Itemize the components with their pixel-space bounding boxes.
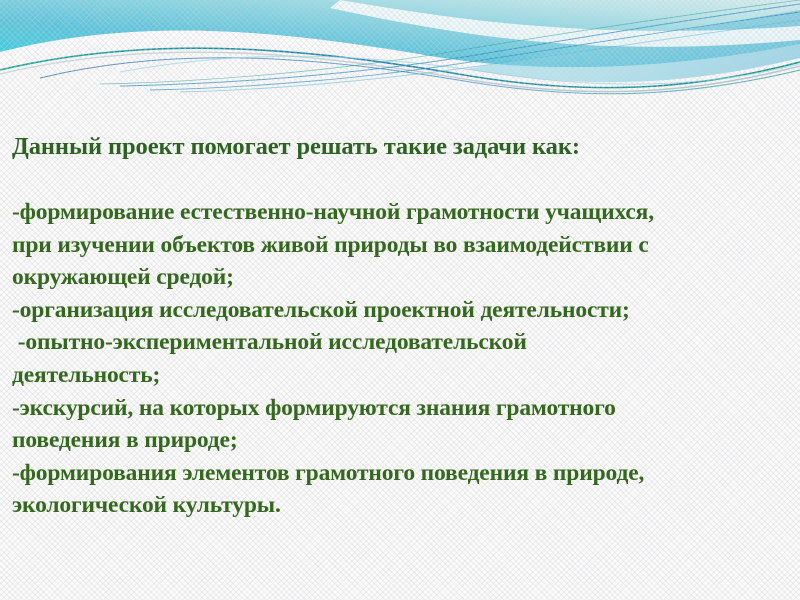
task-list: -формирование естественно-научной грамот… bbox=[12, 196, 794, 522]
task-line: экологической культуры. bbox=[12, 489, 794, 522]
presentation-slide: Данный проект помогает решать такие зада… bbox=[0, 0, 800, 600]
task-line: поведения в природе; bbox=[12, 424, 794, 457]
task-line: окружающей средой; bbox=[12, 261, 794, 294]
wavy-ribbon-banner bbox=[0, 0, 800, 96]
task-line: -опытно-экспериментальной исследовательс… bbox=[12, 326, 794, 359]
task-line: -экскурсий, на которых формируются знани… bbox=[12, 392, 794, 425]
task-line: деятельность; bbox=[12, 359, 794, 392]
task-line: -формирования элементов грамотного повед… bbox=[12, 457, 794, 490]
slide-headline: Данный проект помогает решать такие зада… bbox=[12, 133, 580, 161]
task-line: при изучении объектов живой природы во в… bbox=[12, 229, 794, 262]
task-line: -формирование естественно-научной грамот… bbox=[12, 196, 794, 229]
task-line: -организация исследовательской проектной… bbox=[12, 294, 794, 327]
